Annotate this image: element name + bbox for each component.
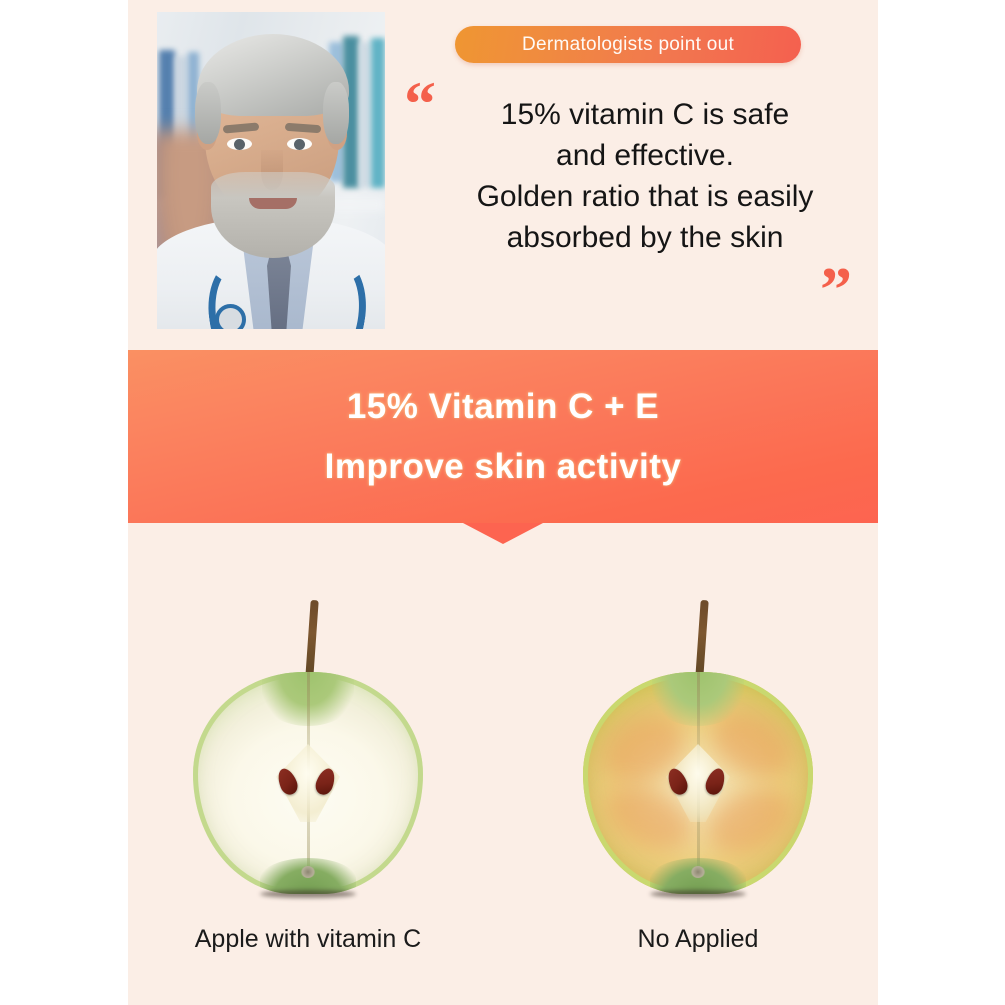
doctor-hair-side [323,82,349,144]
quote-text: 15% vitamin C is safe and effective. Gol… [420,94,870,258]
doctor-pupil [294,139,305,150]
apple-caption-oxidized: No Applied [553,925,843,954]
doctor-mouth [249,198,297,209]
doctor-eye [227,138,252,150]
apple-caption-fresh: Apple with vitamin C [163,925,453,954]
doctor-pupil [234,139,245,150]
apple-comparison: Apple with vitamin C [128,580,878,920]
banner-arrow-icon [463,523,543,544]
promo-page: Dermatologists point out “ 15% vitamin C… [0,0,1005,1005]
apple-flesh-oxidized [583,672,813,894]
doctor-eye [287,138,312,150]
apple-item-fresh: Apple with vitamin C [163,580,453,920]
quote-line-3: Golden ratio that is easily [420,176,870,217]
doctor-photo [157,12,385,329]
apple-image-oxidized [583,600,813,900]
quote-line-4: absorbed by the skin [420,217,870,258]
apple-blossom-end [691,866,705,878]
background-book [371,38,385,188]
apple-stem [695,600,709,682]
stethoscope-chestpiece [215,304,246,329]
background-book [359,42,371,188]
apple-item-oxidized: No Applied [553,580,843,920]
doctor-hair-side [195,82,221,144]
dermatologists-badge: Dermatologists point out [455,26,801,63]
apple-blossom-end [301,866,315,878]
banner-line-2: Improve skin activity [325,437,682,497]
badge-label: Dermatologists point out [522,34,734,56]
apple-shadow [260,890,356,898]
apple-stem [305,600,319,682]
quote-line-2: and effective. [420,135,870,176]
apple-image-fresh [193,600,423,900]
quote-close-icon: ” [820,258,852,322]
headline-banner: 15% Vitamin C + E Improve skin activity [128,350,878,523]
quote-line-1: 15% vitamin C is safe [420,94,870,135]
apple-shadow [650,890,746,898]
apple-flesh-fresh [193,672,423,894]
banner-line-1: 15% Vitamin C + E [347,377,659,437]
